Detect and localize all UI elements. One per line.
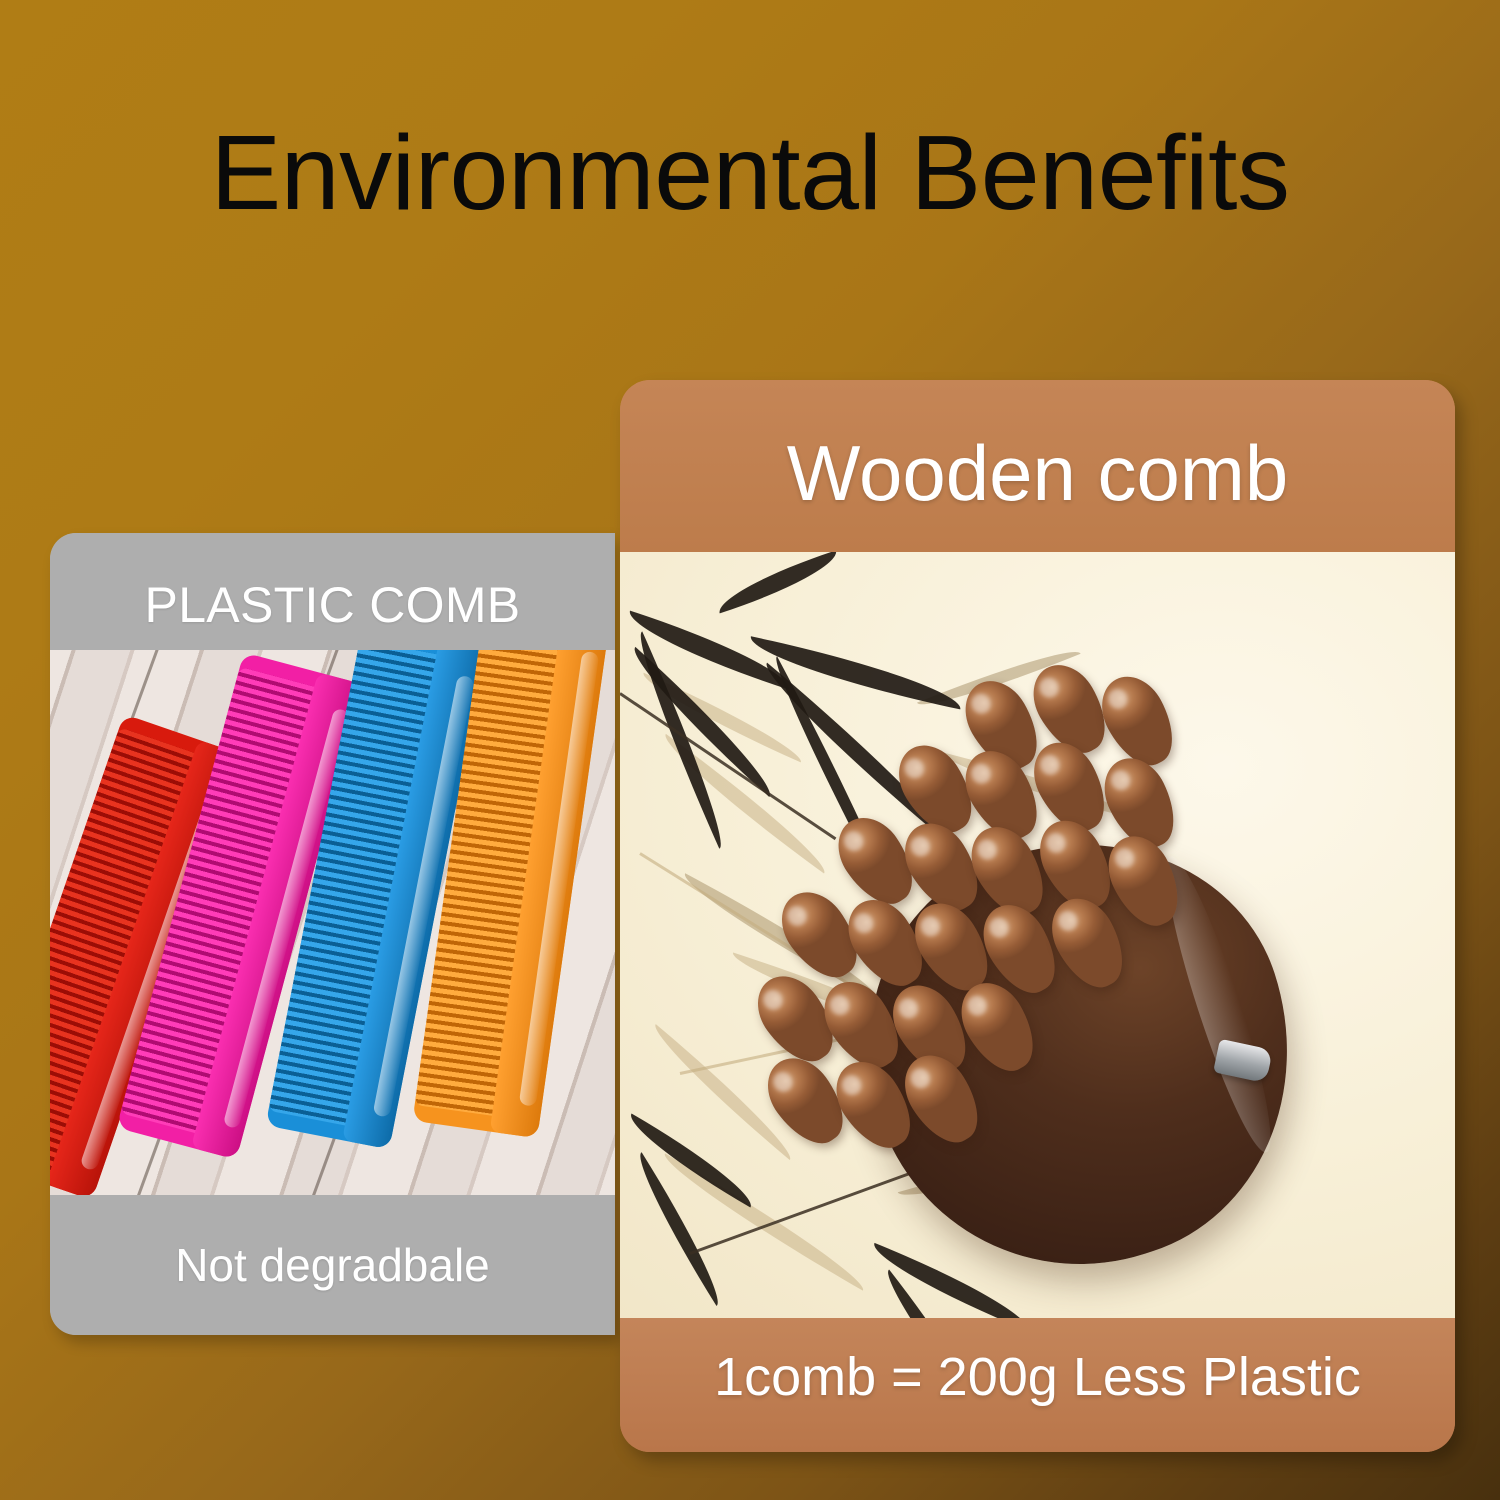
plastic-comb-card[interactable]: PLASTIC COMB xyxy=(50,533,615,1335)
plastic-card-header: PLASTIC COMB xyxy=(50,533,615,650)
page-title: Environmental Benefits xyxy=(0,118,1500,229)
wooden-card-header: Wooden comb xyxy=(620,380,1455,552)
wooden-card-footer: 1comb = 200g Less Plastic xyxy=(620,1318,1455,1452)
plastic-card-footer: Not degradbale xyxy=(50,1195,615,1335)
poster-canvas: Environmental Benefits PLASTIC COMB xyxy=(0,0,1500,1500)
wooden-comb-photo xyxy=(620,552,1455,1318)
plastic-comb-photo xyxy=(50,650,615,1195)
wooden-comb-card[interactable]: Wooden comb xyxy=(620,380,1455,1452)
